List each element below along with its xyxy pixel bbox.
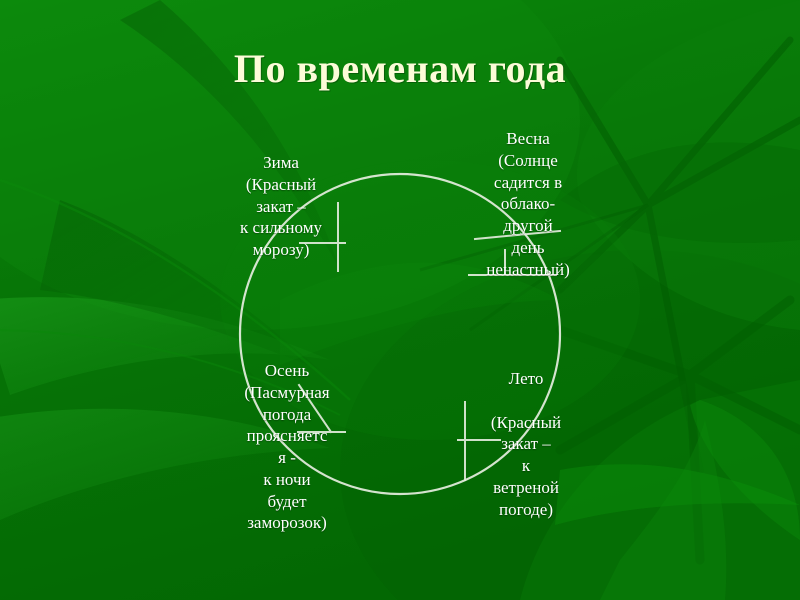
page-title: По временам года: [0, 48, 800, 90]
season-label-winter: Зима (Красный закат – к сильному морозу): [206, 152, 356, 261]
presentation-slide: По временам года Зима (Красный закат – к…: [0, 0, 800, 600]
season-label-spring: Весна (Солнце садится в облако- другой д…: [454, 128, 602, 280]
season-label-summer: Лето (Красный закат – к ветреной погоде): [452, 368, 600, 520]
season-label-autumn: Осень (Пасмурная погода проясняетс я - к…: [212, 360, 362, 534]
